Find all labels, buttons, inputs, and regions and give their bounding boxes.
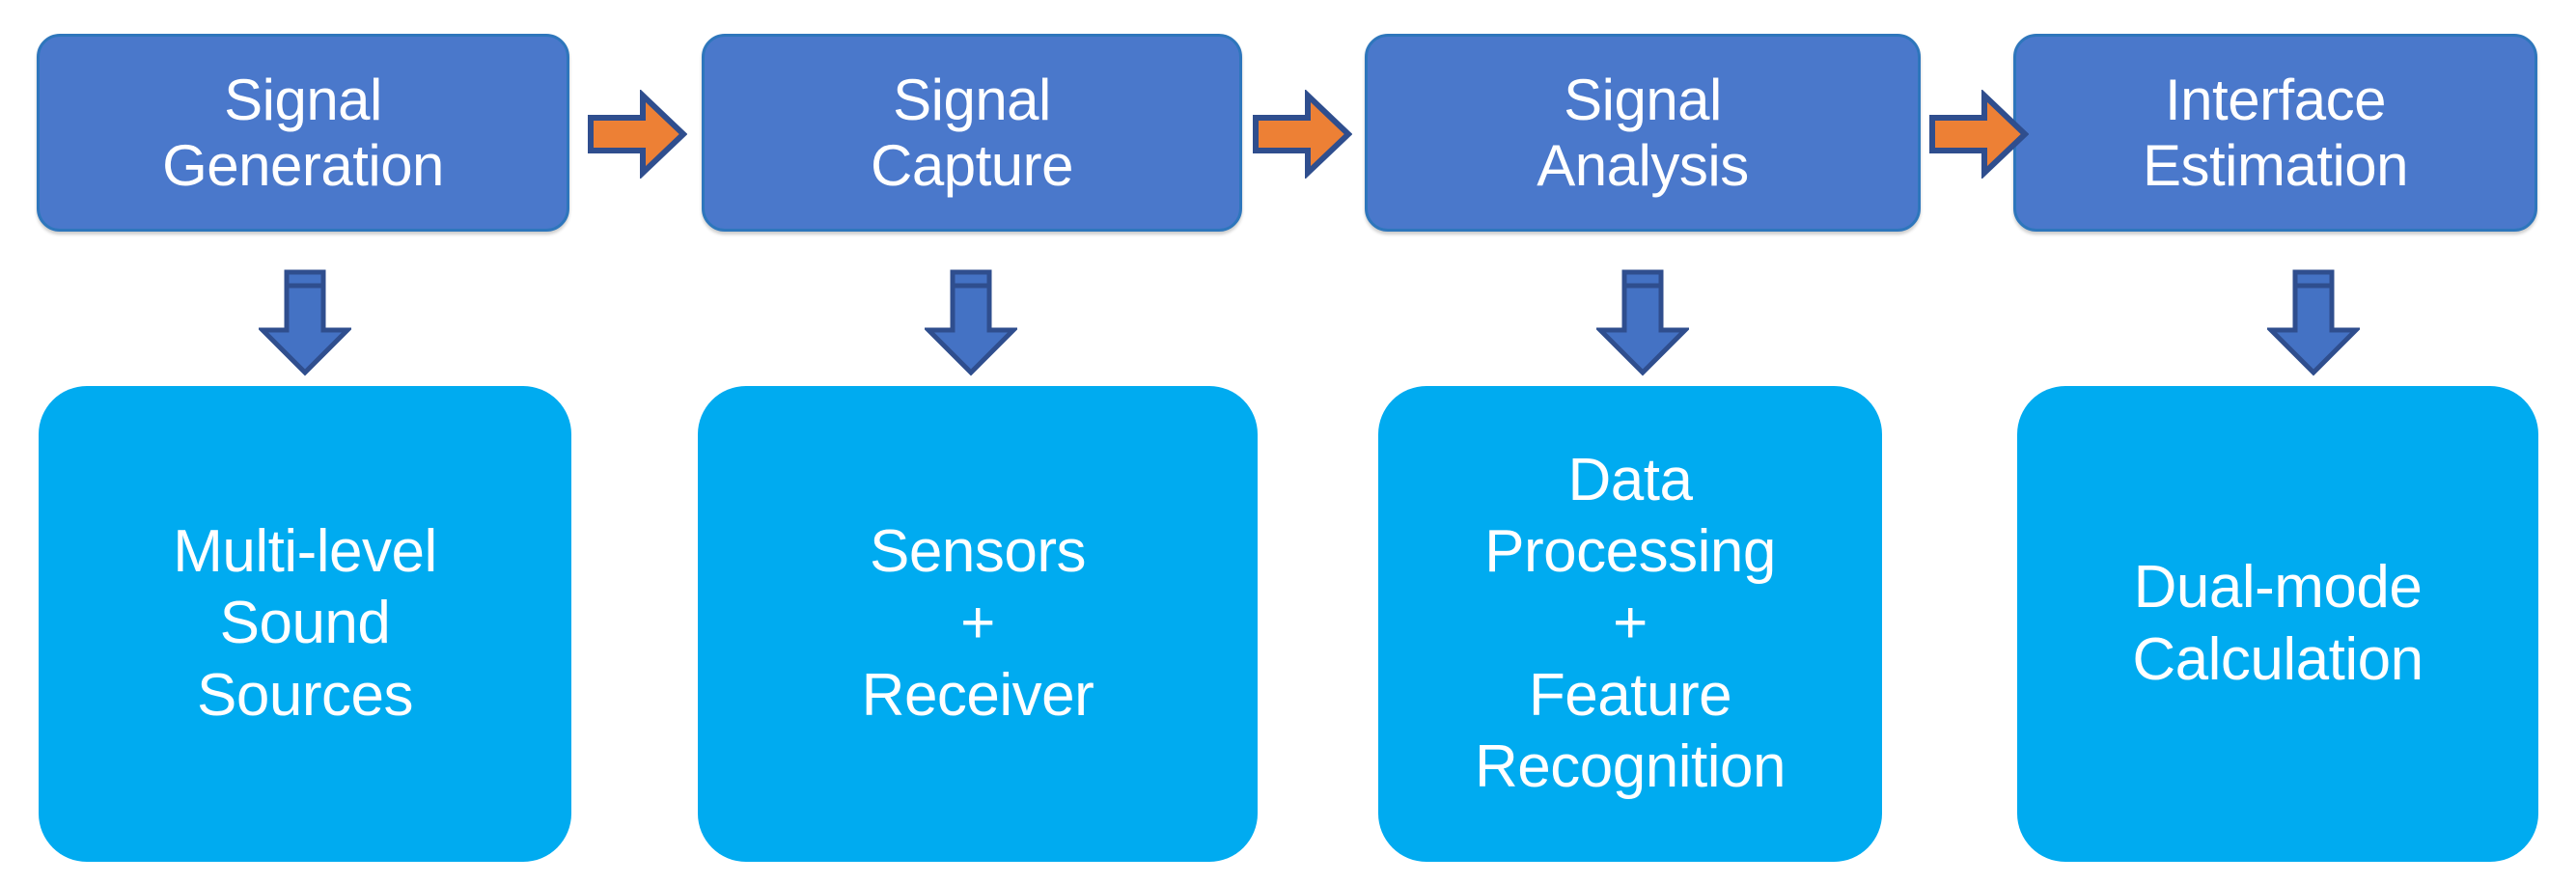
arrow-right-icon — [1252, 90, 1352, 179]
stage-box-signal-capture[interactable]: Signal Capture — [702, 34, 1242, 232]
flow-arrow-signal-generation-to-signal-capture — [587, 90, 687, 179]
stage-box-signal-analysis[interactable]: Signal Analysis — [1365, 34, 1921, 232]
arrow-down-icon — [2267, 268, 2360, 376]
flow-arrow-signal-analysis-to-interface-estimation — [1928, 90, 2029, 179]
down-arrow-signal-generation — [259, 268, 351, 376]
stage-label: Signal Generation — [162, 68, 444, 197]
stage-label: Signal Analysis — [1537, 68, 1748, 197]
stage-label: Interface Estimation — [2143, 68, 2408, 197]
detail-box-multi-level-sound-sources[interactable]: Multi-level Sound Sources — [39, 386, 571, 862]
arrow-down-icon — [1596, 268, 1689, 376]
detail-box-data-processing-feature-recognition[interactable]: Data Processing + Feature Recognition — [1378, 386, 1882, 862]
flowchart-canvas: Signal Generation Signal Capture Signal … — [0, 0, 2576, 884]
detail-box-dual-mode-calculation[interactable]: Dual-mode Calculation — [2017, 386, 2538, 862]
down-arrow-signal-analysis — [1596, 268, 1689, 376]
stage-label: Signal Capture — [871, 68, 1073, 197]
detail-label: Multi-level Sound Sources — [173, 516, 437, 732]
stage-box-interface-estimation[interactable]: Interface Estimation — [2013, 34, 2537, 232]
arrow-down-icon — [925, 268, 1017, 376]
detail-label: Sensors + Receiver — [862, 516, 1094, 732]
down-arrow-interface-estimation — [2267, 268, 2360, 376]
detail-label: Data Processing + Feature Recognition — [1475, 445, 1786, 804]
detail-label: Dual-mode Calculation — [2132, 552, 2423, 696]
down-arrow-signal-capture — [925, 268, 1017, 376]
stage-box-signal-generation[interactable]: Signal Generation — [37, 34, 569, 232]
detail-box-sensors-receiver[interactable]: Sensors + Receiver — [698, 386, 1258, 862]
flow-arrow-signal-capture-to-signal-analysis — [1252, 90, 1352, 179]
arrow-down-icon — [259, 268, 351, 376]
arrow-right-icon — [587, 90, 687, 179]
arrow-right-icon — [1928, 90, 2029, 179]
